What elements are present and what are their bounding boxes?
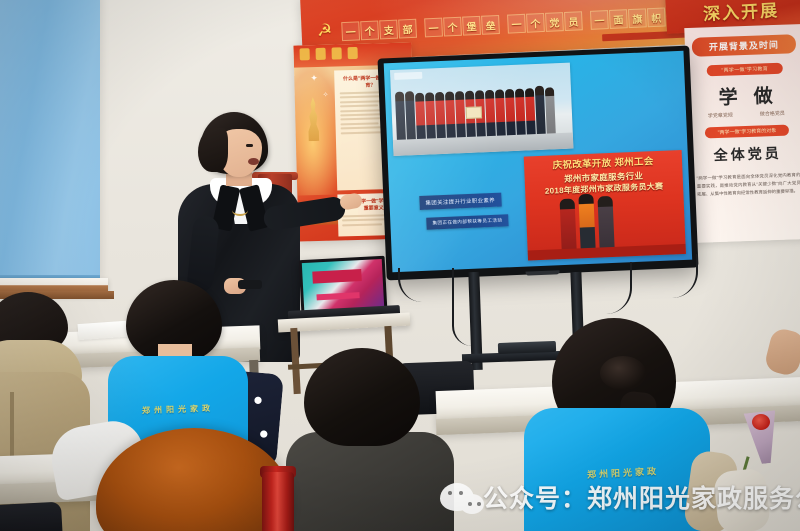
- panel-body-text: "两学一做"学习教育是面向全体党员深化党内教育的重要实践，是推动党内教育从"关键…: [696, 171, 800, 199]
- photo-logo-icon: [394, 72, 422, 80]
- stage-floor: [528, 244, 686, 261]
- stage-person: [578, 194, 595, 255]
- slogan-char: 支: [379, 19, 398, 39]
- presenter-eye: [246, 144, 253, 147]
- tv-screen: 庆祝改革开放 郑州工会 郑州市家庭服务行业 2018年度郑州市家政服务员大赛 集…: [384, 51, 692, 272]
- poster-knot-decorations: [300, 47, 358, 61]
- panel-sub-right: 做合格党员: [760, 110, 785, 118]
- panel-title: 开展背景及时间: [692, 34, 797, 57]
- slogan-char: 一: [341, 21, 360, 41]
- knot-icon: [300, 48, 310, 60]
- slogan-char: 员: [564, 11, 583, 31]
- knot-icon: [348, 47, 358, 59]
- rose-bloom: [752, 414, 770, 430]
- panel-sub-row: 学党章党规 做合格党员: [694, 109, 798, 120]
- slogan-separator: [417, 18, 424, 37]
- slide-bullet-2: 集团正在做内部帮扶等员工活动: [426, 214, 508, 229]
- window-blind: [0, 0, 100, 280]
- red-thermos-flask: [262, 472, 294, 531]
- slogan-char: 党: [545, 12, 564, 32]
- person-figure: [545, 87, 556, 139]
- poster-text-line: [341, 122, 379, 125]
- slogan-separator: [500, 14, 507, 33]
- attendee-blue-vest-2-bun: [600, 356, 646, 390]
- slogan-char: 堡: [462, 15, 481, 35]
- laptop-screen-content: [302, 259, 384, 311]
- panel-big-text-2: 全体党员: [695, 142, 800, 166]
- attendee-mid-head: [304, 348, 420, 446]
- dove-icon: ✧: [323, 91, 329, 99]
- presenter-hair-front: [198, 128, 228, 172]
- poster-text-line: [342, 223, 382, 226]
- presentation-tv: 庆祝改革开放 郑州工会 郑州市家庭服务行业 2018年度郑州市家政服务员大赛 集…: [377, 46, 698, 281]
- panel-sub-left: 学党章党规: [708, 111, 733, 119]
- attendee-mid-shoulders: [286, 432, 454, 531]
- knot-icon: [316, 48, 326, 60]
- party-slogan-characters: 一 个 支 部 一 个 堡 垒 一 个 党 员 一 面 旗 帜: [341, 4, 622, 45]
- slogan-char: 个: [443, 16, 462, 36]
- slide-bullet-1: 集团关注提升行业职业素养: [419, 193, 501, 210]
- award-plaque-icon: [466, 106, 482, 119]
- slogan-char: 一: [424, 17, 443, 37]
- stage-people: [559, 193, 614, 255]
- attendee-sleeve: [713, 467, 771, 531]
- slogan-char: 面: [609, 9, 628, 29]
- screenshot-root: ☭ 一 个 支 部 一 个 堡 垒 一 个 党 员 一 面 旗 帜 深入开展 开…: [0, 0, 800, 531]
- stage-person: [597, 196, 614, 254]
- poster-text-line: [340, 105, 378, 108]
- slogan-char: 旗: [628, 8, 647, 28]
- chair-back: [0, 502, 63, 531]
- slogan-char: 帜: [647, 7, 666, 27]
- panel-pill-2: "两学一做"学习教育的对象: [705, 125, 789, 139]
- panel-big-text: 学做: [693, 80, 798, 111]
- slogan-char: 个: [526, 12, 545, 32]
- stage-person: [560, 199, 577, 256]
- slogan-char: 个: [360, 20, 379, 40]
- slogan-char: 部: [398, 18, 417, 38]
- party-emblem-icon: ☭: [313, 20, 336, 41]
- slogan-char: 一: [507, 13, 526, 33]
- panel-pill-1: "两学一做"学习教育: [707, 63, 783, 77]
- slide-photo-group: [390, 63, 573, 156]
- slogan-char: 一: [590, 10, 609, 30]
- presenter-remote: [238, 280, 262, 289]
- slogan-char: 垒: [481, 14, 500, 34]
- media-box: [498, 341, 556, 354]
- slide-photo-stage: 庆祝改革开放 郑州工会 郑州市家庭服务行业 2018年度郑州市家政服务员大赛: [524, 150, 686, 261]
- knot-icon: [332, 47, 342, 59]
- right-info-panel: 开展背景及时间 "两学一做"学习教育 学做 学党章党规 做合格党员 "两学一做"…: [684, 24, 800, 243]
- stage-banner-text: 庆祝改革开放 郑州工会 郑州市家庭服务行业 2018年度郑州市家政服务员大赛: [524, 154, 683, 198]
- dove-icon: ✦: [310, 73, 318, 84]
- presenter-mouth: [248, 158, 259, 165]
- presenter-necklace: [232, 204, 248, 216]
- slogan-separator: [583, 10, 590, 29]
